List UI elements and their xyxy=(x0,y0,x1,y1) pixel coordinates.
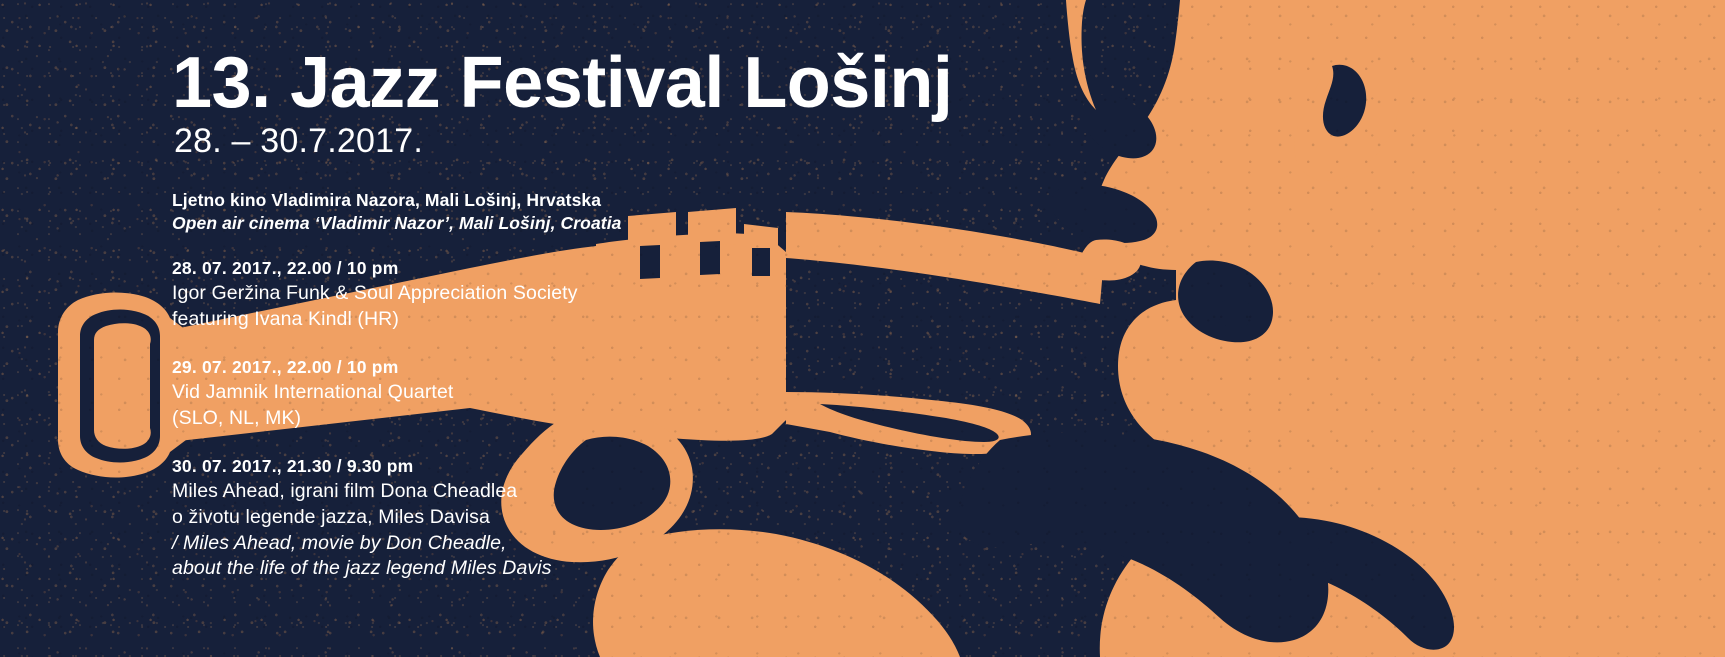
program-event: 29. 07. 2017., 22.00 / 10 pm Vid Jamnik … xyxy=(172,355,792,432)
event-datetime: 30. 07. 2017., 21.30 / 9.30 pm xyxy=(172,454,792,479)
venue-english: Open air cinema ‘Vladimir Nazor’, Mali L… xyxy=(172,212,622,235)
venue-block: Ljetno kino Vladimira Nazora, Mali Lošin… xyxy=(172,189,622,236)
event-datetime: 29. 07. 2017., 22.00 / 10 pm xyxy=(172,355,792,380)
event-description-line: / Miles Ahead, movie by Don Cheadle, xyxy=(172,531,792,557)
page-title: 13. Jazz Festival Lošinj xyxy=(172,47,952,119)
program-event: 30. 07. 2017., 21.30 / 9.30 pm Miles Ahe… xyxy=(172,454,792,582)
festival-dates: 28. – 30.7.2017. xyxy=(174,124,423,158)
event-description-line: Igor Geržina Funk & Soul Appreciation So… xyxy=(172,281,792,307)
program-event: 28. 07. 2017., 22.00 / 10 pm Igor Geržin… xyxy=(172,256,792,333)
event-description-line: o životu legende jazza, Miles Davisa xyxy=(172,505,792,531)
poster-content: 13. Jazz Festival Lošinj 28. – 30.7.2017… xyxy=(0,0,1725,657)
venue-croatian: Ljetno kino Vladimira Nazora, Mali Lošin… xyxy=(172,189,622,212)
event-description-line: (SLO, NL, MK) xyxy=(172,406,792,432)
program-list: 28. 07. 2017., 22.00 / 10 pm Igor Geržin… xyxy=(172,256,792,582)
event-description-line: Vid Jamnik International Quartet xyxy=(172,380,792,406)
event-description-line: featuring Ivana Kindl (HR) xyxy=(172,307,792,333)
event-description-line: about the life of the jazz legend Miles … xyxy=(172,556,792,582)
jazz-festival-poster: 13. Jazz Festival Lošinj 28. – 30.7.2017… xyxy=(0,0,1725,657)
event-description-line: Miles Ahead, igrani film Dona Cheadlea xyxy=(172,479,792,505)
event-datetime: 28. 07. 2017., 22.00 / 10 pm xyxy=(172,256,792,281)
